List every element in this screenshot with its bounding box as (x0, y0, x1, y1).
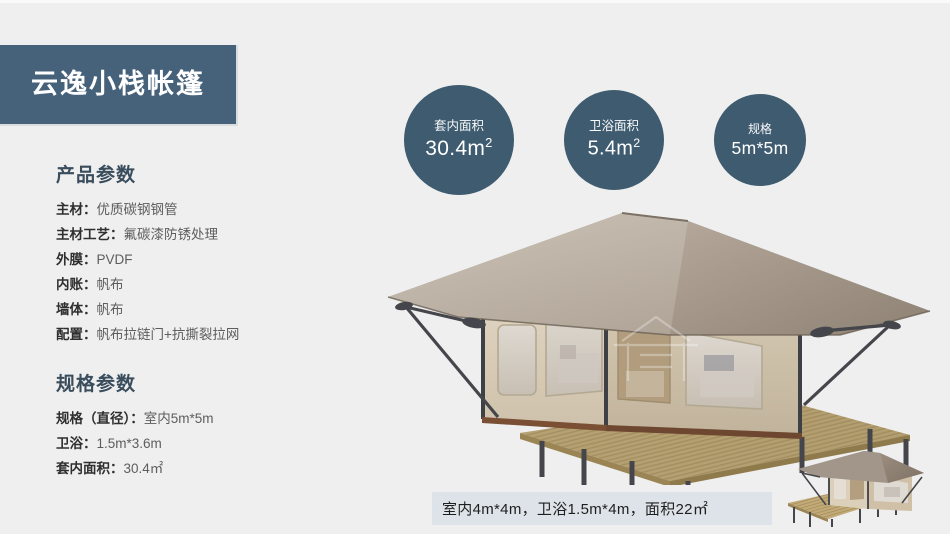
product-params-list: 主材：优质碳钢钢管 主材工艺：氟碳漆防锈处理 外膜：PVDF 内账：帆布 墙体：… (56, 197, 360, 347)
spec-label: 配置： (56, 327, 97, 342)
tent-roof (380, 213, 930, 361)
stat-badge-size: 规格 5m*5m (714, 94, 806, 186)
spec-row: 规格（直径）：室内5m*5m (56, 406, 360, 431)
caption-text: 室内4m*4m，卫浴1.5m*4m，面积22㎡ (432, 498, 708, 519)
section-gap (0, 347, 360, 369)
spec-row: 墙体：帆布 (56, 297, 360, 322)
page-root: 云逸小栈帐篷 产品参数 主材：优质碳钢钢管 主材工艺：氟碳漆防锈处理 外膜：PV… (0, 0, 950, 534)
tent-thumbnail (776, 443, 940, 529)
spec-value: 1.5m*3.6m (97, 436, 162, 451)
tent-illustration (370, 185, 950, 485)
spec-label: 内账： (56, 277, 97, 292)
badge-value: 5m*5m (732, 139, 789, 157)
specs-column: 产品参数 主材：优质碳钢钢管 主材工艺：氟碳漆防锈处理 外膜：PVDF 内账：帆… (0, 160, 360, 481)
spec-label: 主材： (56, 202, 97, 217)
spec-row: 主材工艺：氟碳漆防锈处理 (56, 222, 360, 247)
spec-value: PVDF (97, 252, 133, 267)
spec-value: 30.4㎡ (124, 461, 164, 476)
spec-row: 套内面积：30.4㎡ (56, 456, 360, 481)
tent-thumbnail-svg (776, 443, 940, 529)
top-hairline (0, 0, 950, 3)
badge-label: 卫浴面积 (589, 120, 639, 134)
spec-row: 内账：帆布 (56, 272, 360, 297)
page-title: 云逸小栈帐篷 (31, 71, 205, 98)
stat-badge-interior-area: 套内面积 30.4m2 (404, 85, 514, 195)
spec-value: 室内5m*5m (144, 411, 214, 426)
spec-value: 帆布 (97, 302, 124, 317)
spec-label: 外膜： (56, 252, 97, 267)
spec-row: 外膜：PVDF (56, 247, 360, 272)
spec-label: 主材工艺： (56, 227, 124, 242)
spec-row: 卫浴：1.5m*3.6m (56, 431, 360, 456)
spec-value: 帆布 (97, 277, 124, 292)
product-params-heading: 产品参数 (56, 160, 360, 187)
spec-label: 墙体： (56, 302, 97, 317)
badge-label: 套内面积 (434, 120, 484, 134)
badge-value: 5.4m2 (588, 137, 641, 160)
spec-row: 主材：优质碳钢钢管 (56, 197, 360, 222)
spec-value: 优质碳钢钢管 (97, 202, 178, 217)
stat-badges: 套内面积 30.4m2 卫浴面积 5.4m2 规格 5m*5m (404, 85, 884, 195)
spec-params-list: 规格（直径）：室内5m*5m 卫浴：1.5m*3.6m 套内面积：30.4㎡ (56, 406, 360, 481)
tent-render-svg (370, 185, 950, 485)
caption-band: 室内4m*4m，卫浴1.5m*4m，面积22㎡ (432, 492, 772, 525)
badge-value: 30.4m2 (425, 136, 492, 160)
spec-value: 氟碳漆防锈处理 (124, 227, 219, 242)
badge-label: 规格 (748, 123, 772, 136)
title-banner: 云逸小栈帐篷 (0, 45, 238, 126)
spec-label: 规格（直径）： (56, 411, 144, 426)
stat-badge-bathroom-area: 卫浴面积 5.4m2 (564, 90, 664, 190)
spec-row: 配置：帆布拉链门+抗撕裂拉网 (56, 322, 360, 347)
spec-value: 帆布拉链门+抗撕裂拉网 (97, 327, 240, 342)
spec-label: 卫浴： (56, 436, 97, 451)
spec-params-heading: 规格参数 (56, 369, 360, 396)
spec-label: 套内面积： (56, 461, 124, 476)
